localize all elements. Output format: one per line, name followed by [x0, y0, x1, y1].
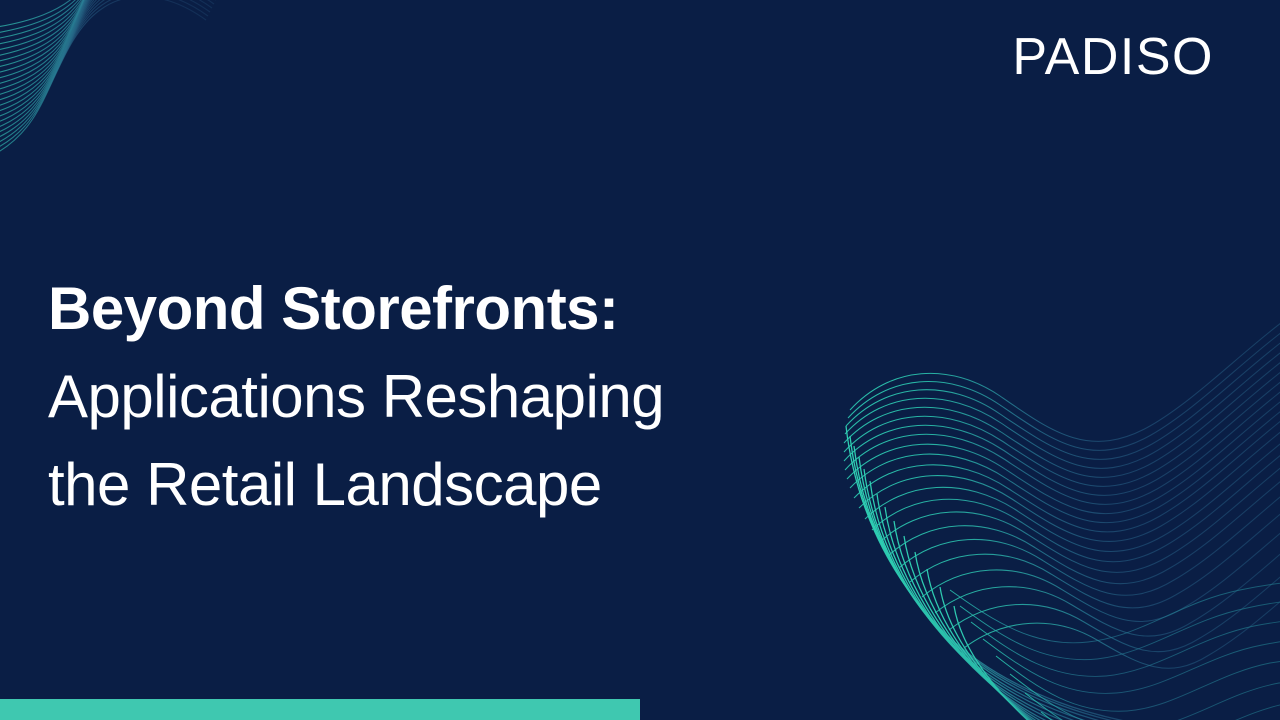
brand-logo-text: PADISO [1012, 28, 1214, 86]
brand-logo: PADISO [974, 28, 1214, 86]
title-slide: PADISO Beyond Storefronts: Applications … [0, 0, 1280, 720]
flowing-line-wave-topleft-icon [0, 0, 230, 220]
page-title: Beyond Storefronts: Applications Reshapi… [48, 265, 848, 529]
title-line-3: the Retail Landscape [48, 441, 848, 529]
title-line-1: Beyond Storefronts: [48, 265, 848, 353]
title-line-2: Applications Reshaping [48, 353, 848, 441]
bottom-accent-bar [0, 699, 640, 720]
flowing-line-wave-right-icon [820, 250, 1280, 720]
